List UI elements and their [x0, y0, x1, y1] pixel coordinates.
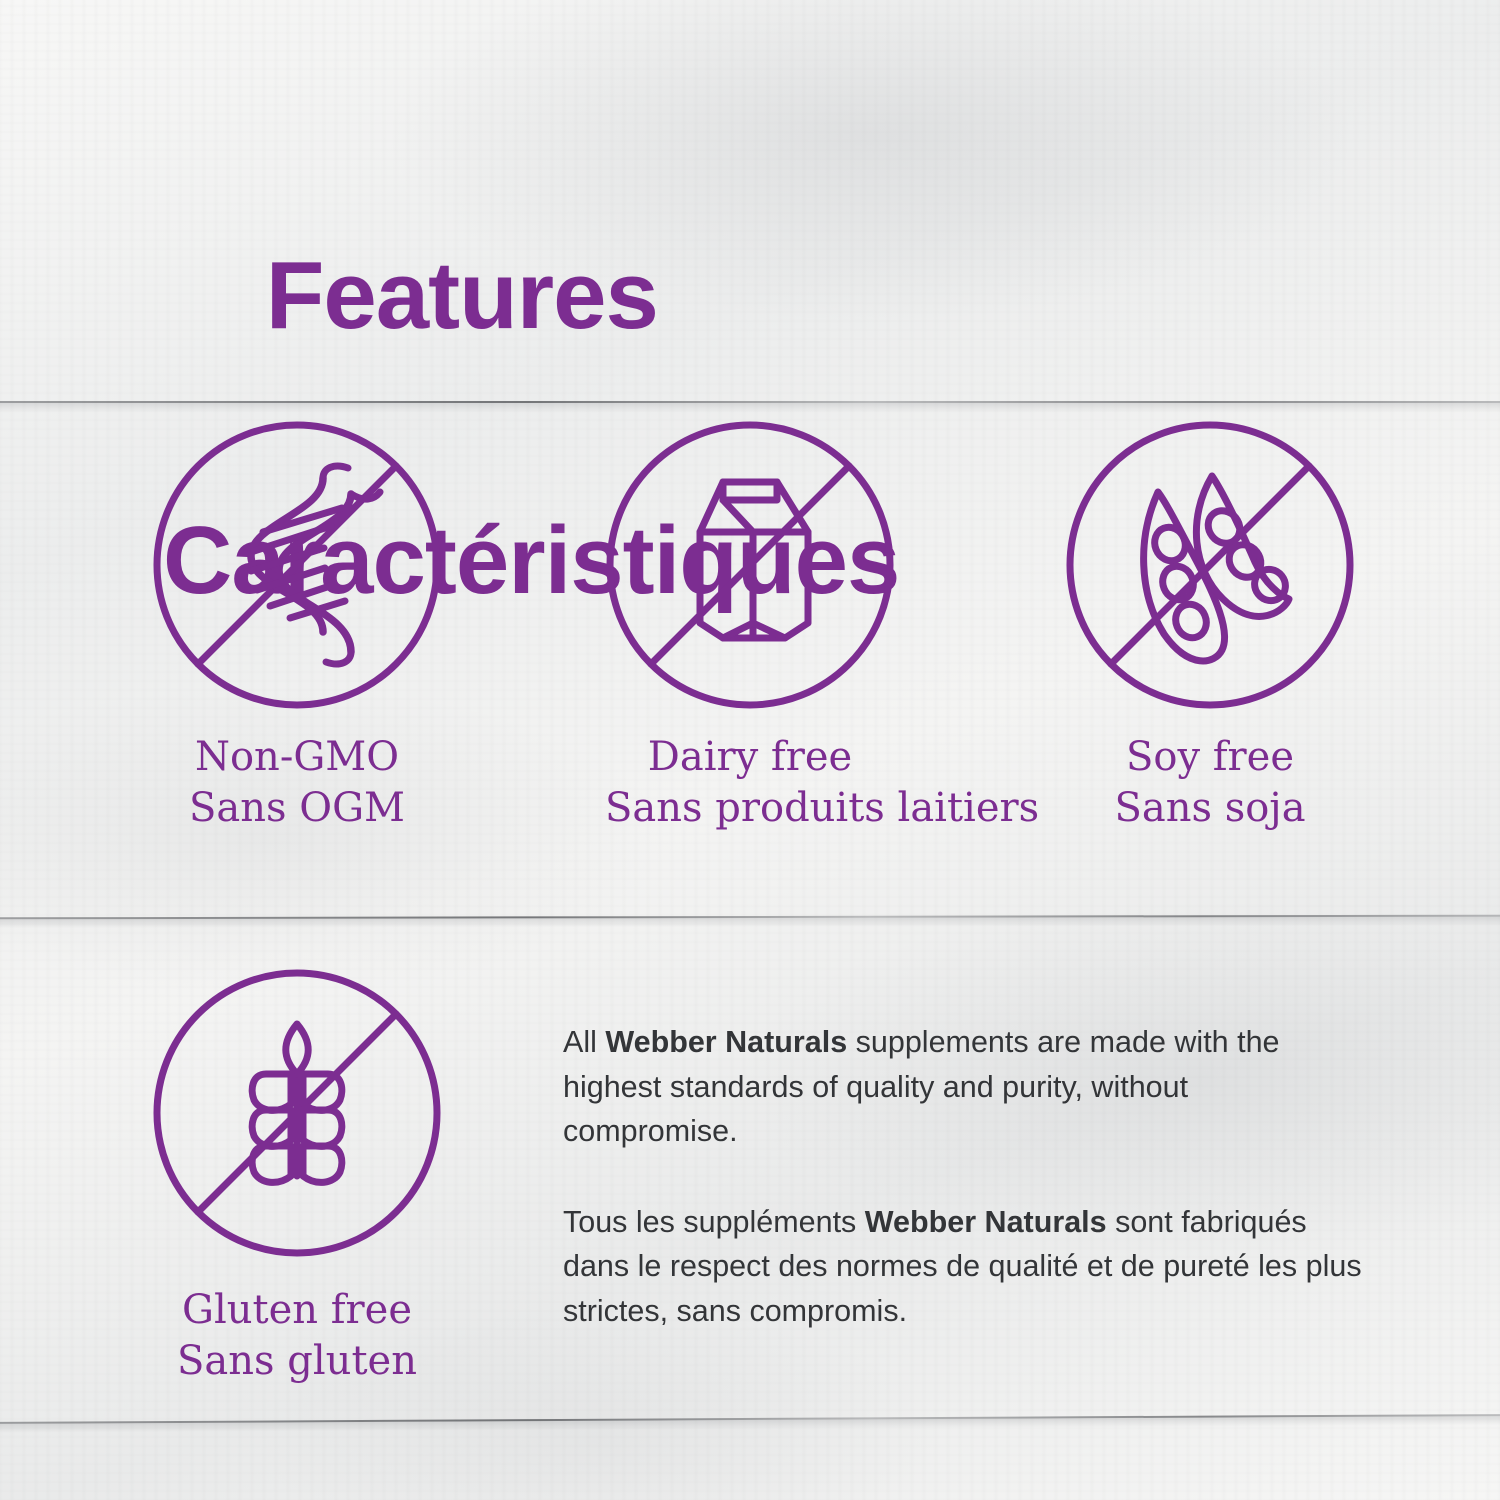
plank-seam-3	[0, 1414, 1500, 1433]
brand-name-fr: Webber Naturals	[865, 1205, 1107, 1239]
plank-seam-2	[0, 915, 1500, 929]
label-en: Gluten free	[152, 1285, 442, 1336]
brand-copy-block: All Webber Naturals supplements are made…	[563, 1020, 1363, 1333]
feature-label-soy-free: Soy free Sans soja	[1065, 732, 1355, 834]
label-fr: Sans OGM	[152, 783, 442, 834]
label-fr: Sans soja	[1065, 783, 1355, 834]
feature-item-dairy-free: Dairy free Sans produits laitiers	[605, 420, 895, 834]
feature-label-gluten-free: Gluten free Sans gluten	[152, 1285, 442, 1387]
label-en: Non-GMO	[152, 732, 442, 783]
brand-name-en: Webber Naturals	[605, 1025, 847, 1059]
feature-item-soy-free: Soy free Sans soja	[1065, 420, 1355, 834]
label-fr: Sans gluten	[152, 1336, 442, 1387]
soybean-pods-no-icon	[1065, 420, 1355, 710]
label-en: Dairy free	[605, 732, 895, 783]
feature-item-non-gmo: Non-GMO Sans OGM	[152, 420, 442, 834]
feature-item-gluten-free: Gluten free Sans gluten	[152, 968, 442, 1387]
label-en: Soy free	[1065, 732, 1355, 783]
label-fr: Sans produits laitiers	[605, 783, 895, 834]
features-panel: Features Caractéristiques	[0, 0, 1500, 1500]
dna-no-icon	[152, 420, 442, 710]
brand-copy-fr: Tous les suppléments Webber Naturals son…	[563, 1200, 1363, 1334]
copy-fr-before: Tous les suppléments	[563, 1205, 865, 1239]
page-title-en: Features	[266, 242, 658, 349]
milk-carton-no-icon	[605, 420, 895, 710]
feature-label-dairy-free: Dairy free Sans produits laitiers	[605, 732, 895, 834]
brand-copy-en: All Webber Naturals supplements are made…	[563, 1020, 1363, 1154]
feature-label-non-gmo: Non-GMO Sans OGM	[152, 732, 442, 834]
wheat-stalk-no-icon	[152, 968, 442, 1258]
copy-en-before: All	[563, 1025, 605, 1059]
